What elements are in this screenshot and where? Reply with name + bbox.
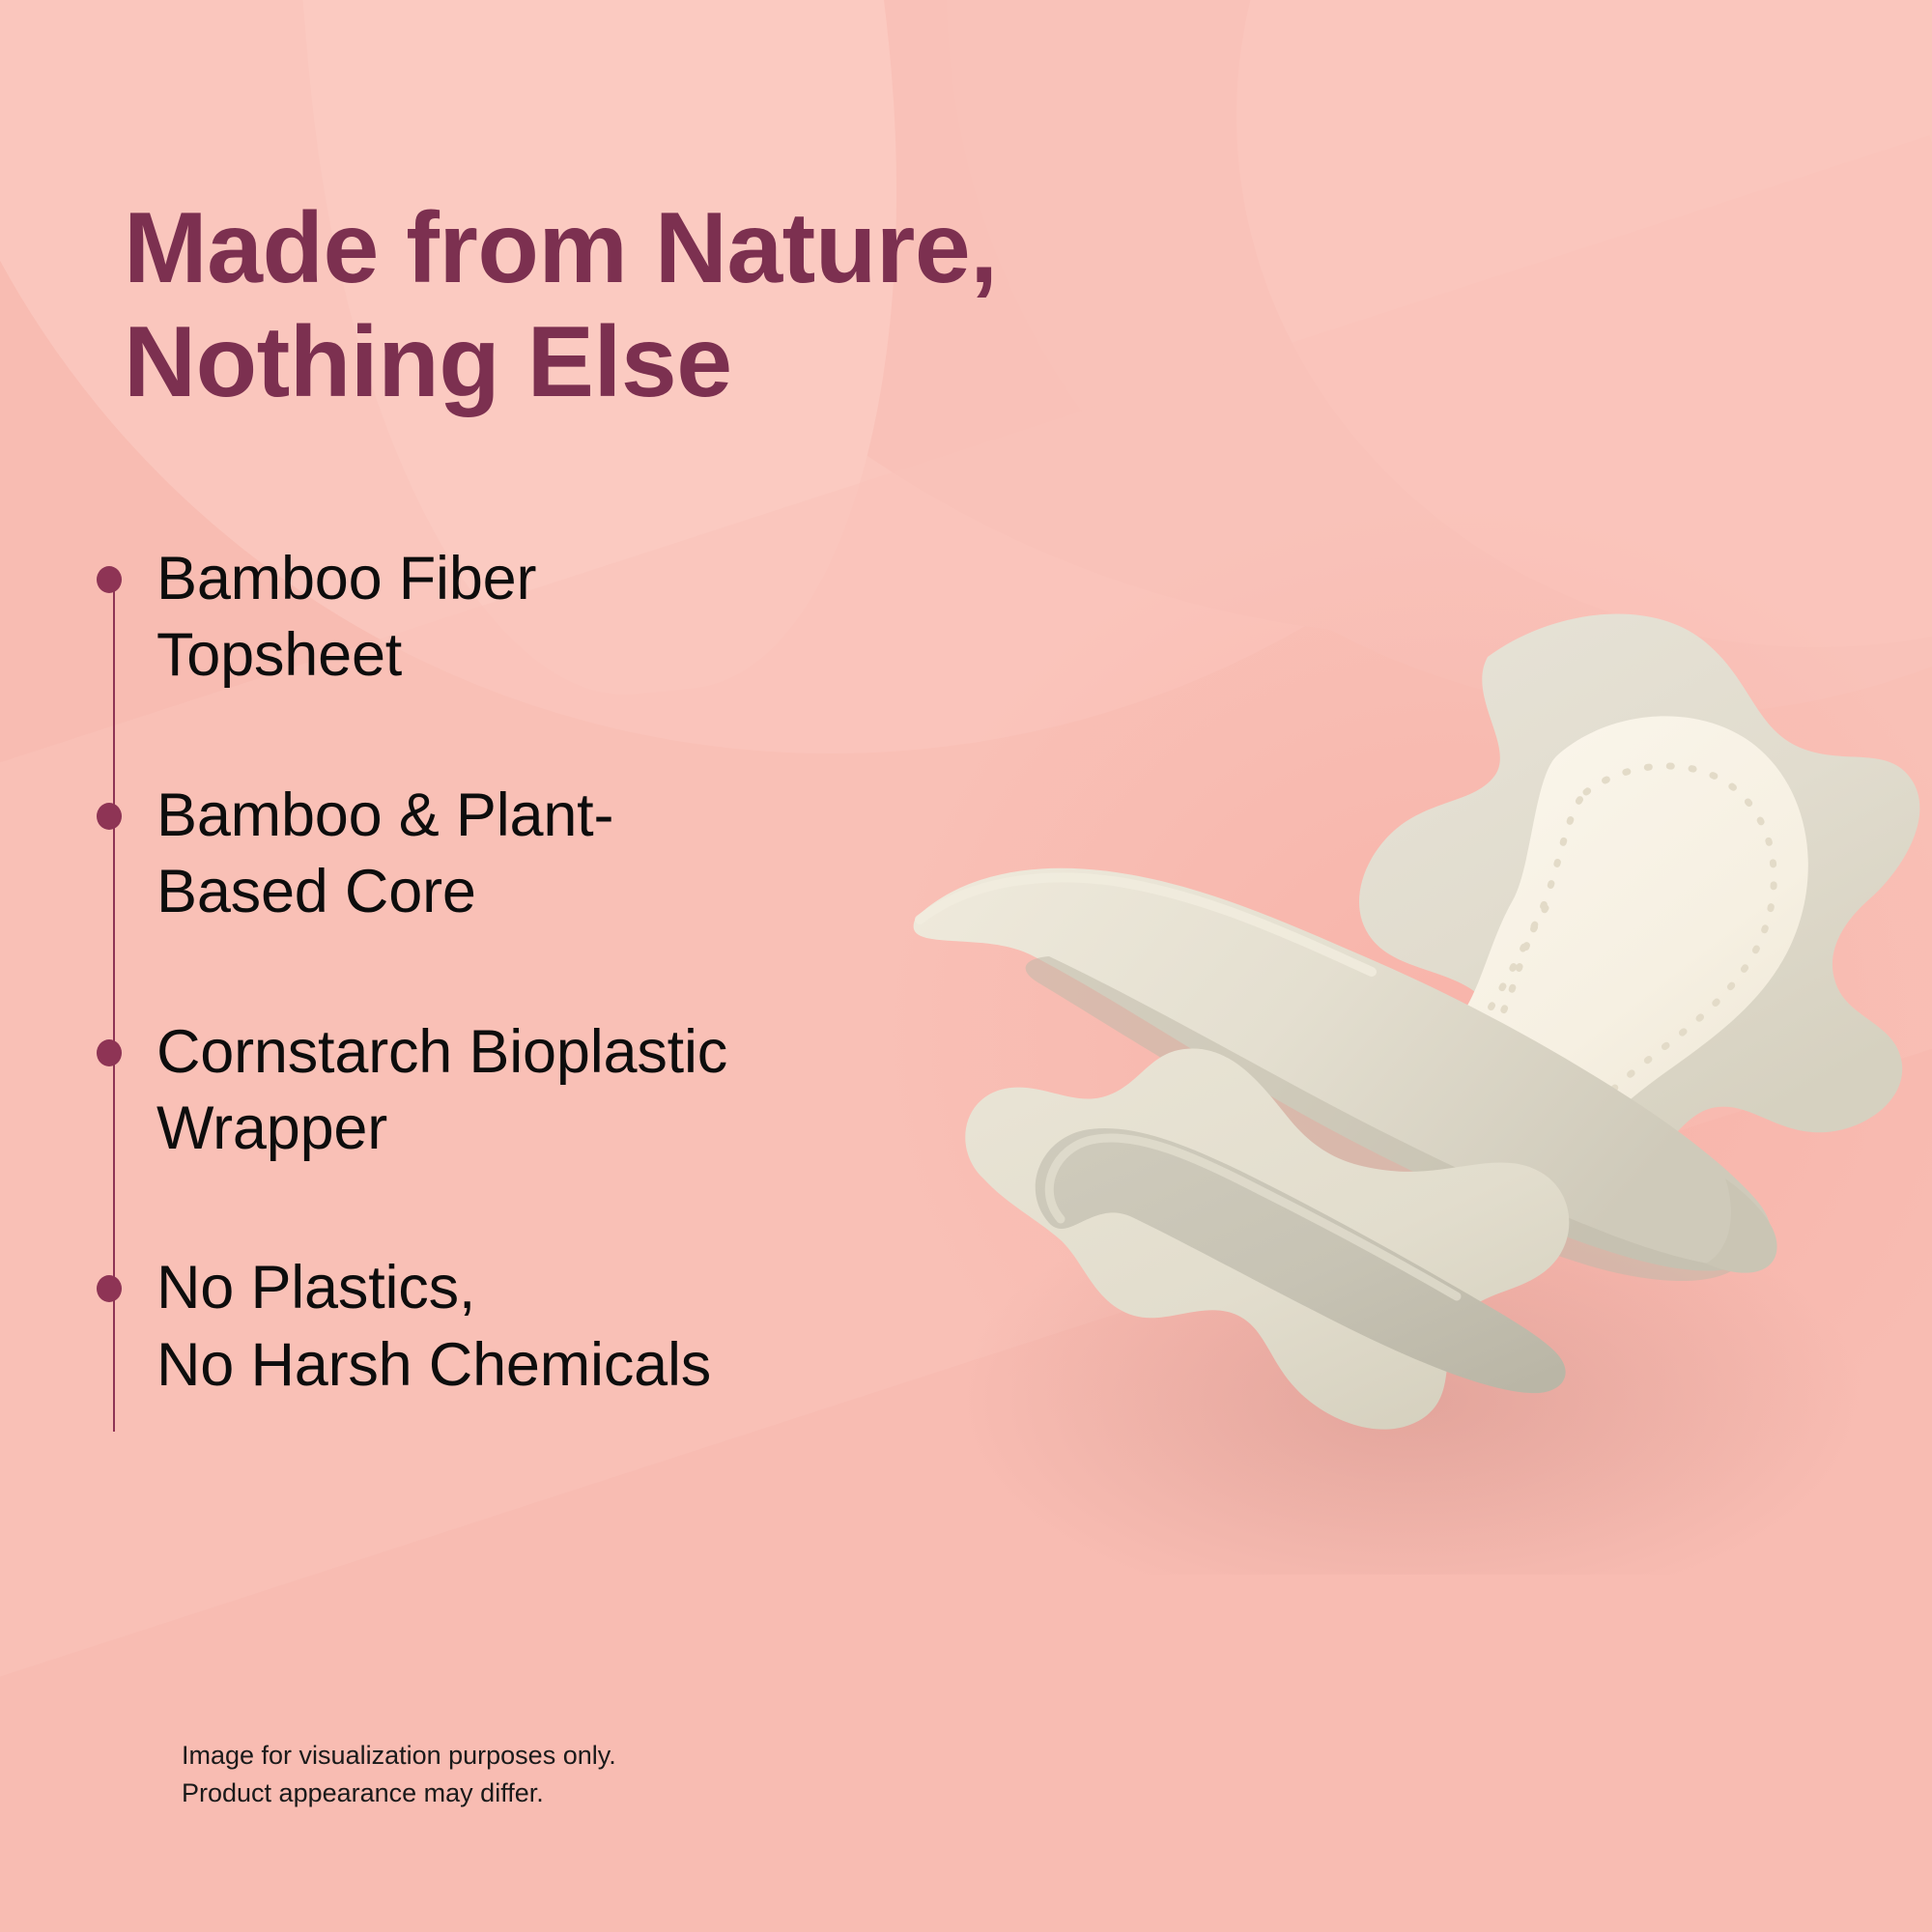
product-illustration xyxy=(869,502,1932,1575)
disclaimer-text: Image for visualization purposes only. P… xyxy=(182,1737,616,1812)
feature-label-cornstarch-bioplastic-wrapper: Cornstarch Bioplastic Wrapper xyxy=(156,1014,727,1168)
feature-label-no-plastics-no-harsh-chemicals: No Plastics, No Harsh Chemicals xyxy=(156,1250,711,1404)
bullet-dot-icon xyxy=(97,803,122,830)
list-item: Cornstarch Bioplastic Wrapper xyxy=(97,1014,1005,1168)
list-item: Bamboo & Plant- Based Core xyxy=(97,778,1005,931)
bullet-dot-icon xyxy=(97,1039,122,1066)
page-title: Made from Nature, Nothing Else xyxy=(124,191,1264,420)
feature-label-bamboo-fiber-topsheet: Bamboo Fiber Topsheet xyxy=(156,541,536,695)
bullet-dot-icon xyxy=(97,1275,122,1302)
feature-list: Bamboo Fiber Topsheet Bamboo & Plant- Ba… xyxy=(97,541,1005,1404)
product-feature-graphic: Made from Nature, Nothing Else Bamboo Fi… xyxy=(0,0,1932,1932)
feature-label-bamboo-plant-based-core: Bamboo & Plant- Based Core xyxy=(156,778,613,931)
list-item: No Plastics, No Harsh Chemicals xyxy=(97,1250,1005,1404)
bullet-dot-icon xyxy=(97,566,122,593)
list-item: Bamboo Fiber Topsheet xyxy=(97,541,1005,695)
